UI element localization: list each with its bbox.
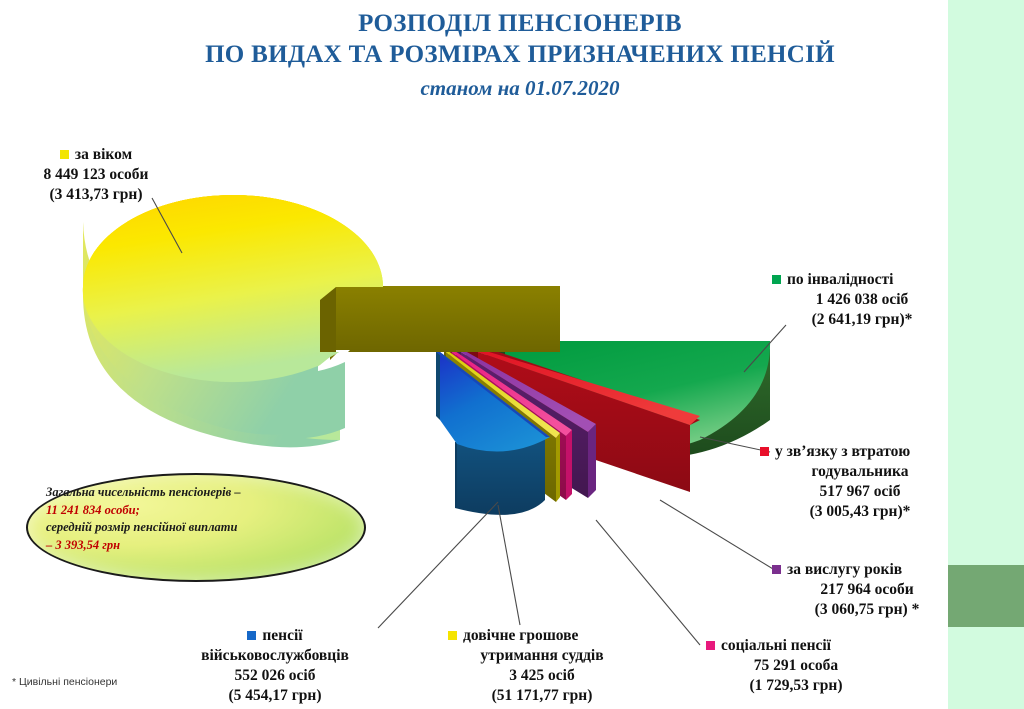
summary-total-value: 11 241 834 особи; (46, 502, 346, 520)
label-military-name2: військовослужбовців (160, 646, 390, 666)
summary-line-3: середній розмір пенсійної виплати (46, 519, 346, 537)
summary-average-value: – 3 393,54 грн (46, 537, 346, 555)
legend-marker-social (706, 641, 715, 650)
label-social-persons: 75 291 особа (706, 656, 886, 676)
label-disability-persons: 1 426 038 осіб (772, 290, 952, 310)
legend-marker-by-age (60, 150, 69, 159)
label-judges-persons: 3 425 осіб (432, 666, 652, 686)
label-judges-name2: утримання суддів (432, 646, 652, 666)
label-by-age: за віком 8 449 123 особи (3 413,73 грн) (6, 145, 186, 205)
legend-marker-disability (772, 275, 781, 284)
label-military: пенсії військовослужбовців 552 026 осіб … (160, 626, 390, 706)
label-military-persons: 552 026 осіб (160, 666, 390, 686)
label-by-age-persons: 8 449 123 особи (6, 165, 186, 185)
label-by-age-average: (3 413,73 грн) (6, 185, 186, 205)
label-service-years-persons: 217 964 особи (772, 580, 962, 600)
legend-marker-military (247, 631, 256, 640)
legend-marker-service-years (772, 565, 781, 574)
label-service-years-average: (3 060,75 грн) * (772, 600, 962, 620)
label-judges: довічне грошове утримання суддів 3 425 о… (432, 626, 652, 706)
label-by-age-header: за віком (6, 145, 186, 165)
label-military-average: (5 454,17 грн) (160, 686, 390, 706)
label-military-header: пенсії (160, 626, 390, 646)
summary-line-1: Загальна чисельність пенсіонерів – (46, 484, 346, 502)
label-service-years: за вислугу років 217 964 особи (3 060,75… (772, 560, 962, 620)
leader-military (378, 502, 498, 628)
label-social-average: (1 729,53 грн) (706, 676, 886, 696)
label-social-header: соціальні пенсії (706, 636, 886, 656)
label-survivor-persons: 517 967 осіб (760, 482, 960, 502)
legend-marker-survivor (760, 447, 769, 456)
label-disability: по інвалідності 1 426 038 осіб (2 641,19… (772, 270, 952, 330)
label-social: соціальні пенсії 75 291 особа (1 729,53 … (706, 636, 886, 696)
legend-marker-judges (448, 631, 457, 640)
summary-text: Загальна чисельність пенсіонерів – 11 24… (46, 484, 346, 554)
label-survivor-name2: годувальника (760, 462, 960, 482)
label-judges-average: (51 171,77 грн) (432, 686, 652, 706)
leader-judges (498, 505, 520, 625)
label-disability-average: (2 641,19 грн)* (772, 310, 952, 330)
label-survivor: у зв’язку з втратою годувальника 517 967… (760, 442, 960, 522)
slide-canvas: РОЗПОДІЛ ПЕНСІОНЕРІВ ПО ВИДАХ ТА РОЗМІРА… (0, 0, 1024, 709)
footnote: * Цивільні пенсіонери (12, 676, 117, 688)
label-survivor-average: (3 005,43 грн)* (760, 502, 960, 522)
label-judges-header: довічне грошове (432, 626, 652, 646)
label-service-years-header: за вислугу років (772, 560, 962, 580)
label-survivor-header: у зв’язку з втратою (760, 442, 960, 462)
label-disability-header: по інвалідності (772, 270, 952, 290)
